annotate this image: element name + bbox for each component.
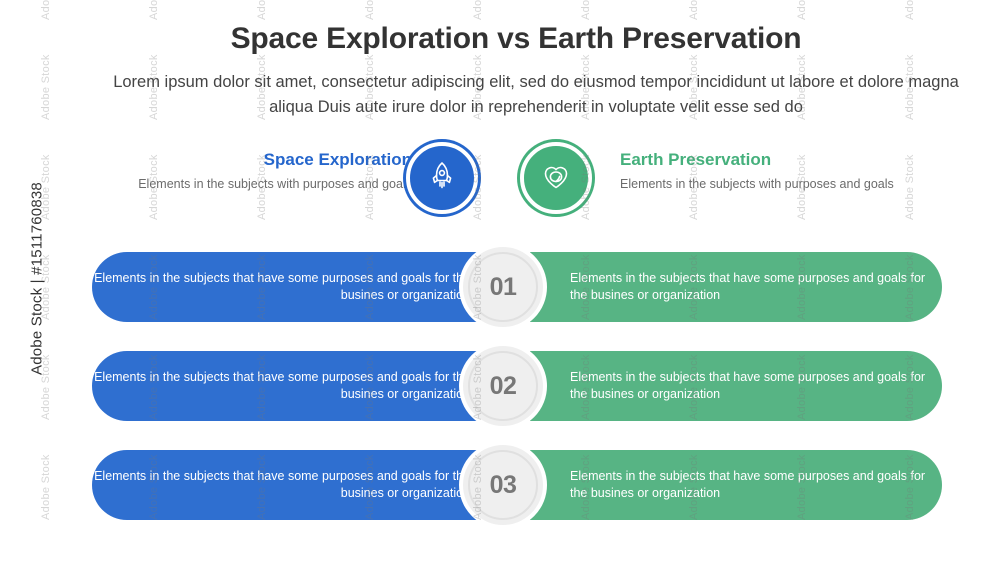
row-right-text: Elements in the subjects that have some … [570,468,942,502]
page-subtitle: Lorem ipsum dolor sit amet, consectetur … [94,70,978,120]
row-right-text: Elements in the subjects that have some … [570,369,942,403]
row-number-badge: 03 [459,441,547,529]
row-number-inner: 01 [468,252,538,322]
heart-leaf-icon-badge [520,142,592,214]
left-side-header: Space Exploration Elements in the subjec… [92,150,412,192]
watermark-id: Adobe Stock | #1511760838 [29,164,46,394]
row-left-bar: Elements in the subjects that have some … [92,351,522,421]
right-side-description: Elements in the subjects with purposes a… [620,176,940,192]
row-left-text: Elements in the subjects that have some … [92,468,470,502]
row-right-bar: Elements in the subjects that have some … [530,351,942,421]
comparison-row: Elements in the subjects that have some … [32,450,1000,520]
row-right-bar: Elements in the subjects that have some … [530,252,942,322]
row-left-bar: Elements in the subjects that have some … [92,450,522,520]
left-side-description: Elements in the subjects with purposes a… [92,176,412,192]
infographic-canvas: Space Exploration vs Earth Preservation … [32,0,1000,563]
right-side-header: Earth Preservation Elements in the subje… [620,150,940,192]
rocket-icon-badge [406,142,478,214]
row-left-text: Elements in the subjects that have some … [92,270,470,304]
row-number-label: 02 [490,372,517,401]
comparison-row: Elements in the subjects that have some … [32,252,1000,322]
row-number-inner: 03 [468,450,538,520]
comparison-header: Space Exploration Elements in the subjec… [32,142,1000,234]
row-left-text: Elements in the subjects that have some … [92,369,470,403]
comparison-row: Elements in the subjects that have some … [32,351,1000,421]
right-side-title: Earth Preservation [620,150,940,170]
watermark-strip: Adobe Stock | #1511760838 [0,0,32,563]
row-right-text: Elements in the subjects that have some … [570,270,942,304]
row-number-label: 01 [490,273,517,302]
rocket-icon [422,156,462,201]
heart-leaf-icon [536,156,576,201]
row-number-badge: 01 [459,243,547,331]
row-left-bar: Elements in the subjects that have some … [92,252,522,322]
row-number-label: 03 [490,471,517,500]
left-side-title: Space Exploration [92,150,412,170]
row-right-bar: Elements in the subjects that have some … [530,450,942,520]
row-number-inner: 02 [468,351,538,421]
page-title: Space Exploration vs Earth Preservation [32,22,1000,56]
row-number-badge: 02 [459,342,547,430]
